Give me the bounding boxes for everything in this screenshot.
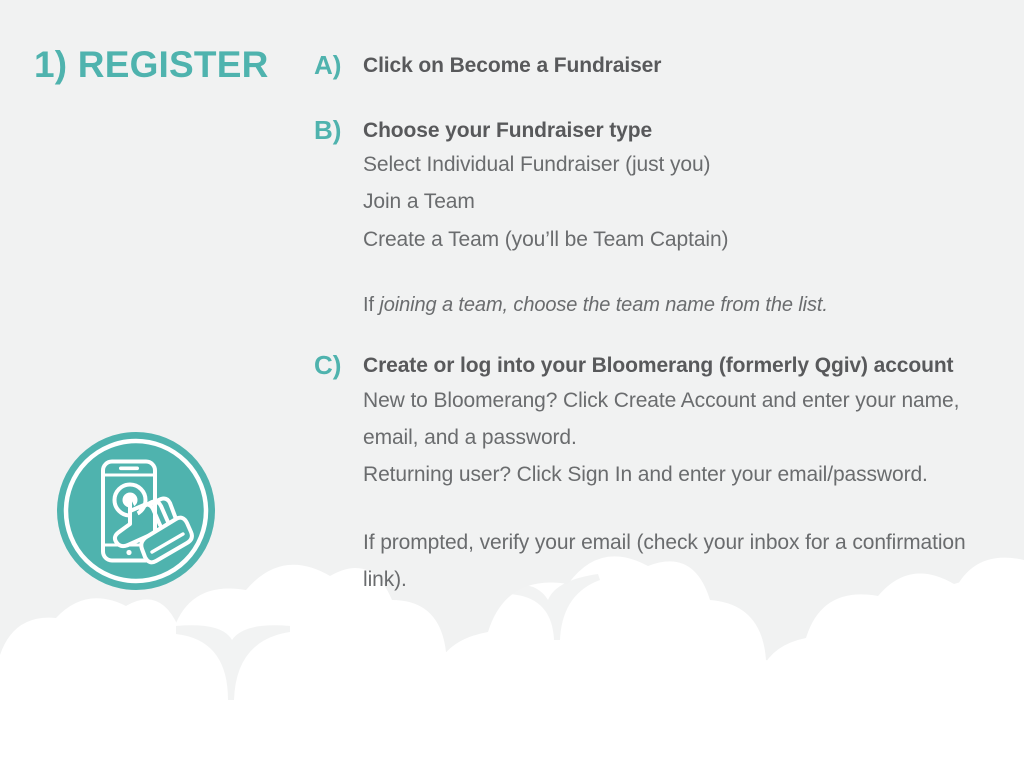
step-c-note: If prompted, verify your email (check yo… [363, 524, 1004, 599]
step-b-heading: Choose your Fundraiser type [363, 115, 1004, 147]
step-b-line-3: Create a Team (you’ll be Team Captain) [363, 221, 1004, 258]
step-c-body: Create or log into your Bloomerang (form… [363, 350, 1004, 598]
page-title: 1) REGISTER [34, 44, 269, 86]
slide-canvas: 1) REGISTER A) Click on Become a Fun [0, 0, 1024, 768]
step-c-line-2: Returning user? Click Sign In and enter … [363, 456, 1004, 493]
tap-phone-icon [56, 431, 216, 591]
step-b-note: If joining a team, choose the team name … [363, 288, 1004, 322]
spacer-b-note [363, 258, 1004, 288]
spacer-b-c [314, 322, 1004, 350]
steps-list: A) Click on Become a Fundraiser B) Choos… [314, 50, 1004, 599]
step-b-letter: B) [314, 115, 354, 147]
step-b: B) Choose your Fundraiser type Select In… [314, 115, 1004, 323]
spacer-c-note [363, 494, 1004, 524]
step-a-heading: Click on Become a Fundraiser [363, 50, 1004, 82]
spacer-a-b [314, 82, 1004, 115]
step-b-line-2: Join a Team [363, 183, 1004, 220]
step-b-note-prefix: If [363, 294, 374, 316]
step-a: A) Click on Become a Fundraiser [314, 50, 1004, 82]
step-c-letter: C) [314, 350, 354, 382]
step-b-body: Choose your Fundraiser type Select Indiv… [363, 115, 1004, 323]
step-a-body: Click on Become a Fundraiser [363, 50, 1004, 82]
step-c-line-1: New to Bloomerang? Click Create Account … [363, 382, 1004, 457]
step-c: C) Create or log into your Bloomerang (f… [314, 350, 1004, 598]
step-b-line-1: Select Individual Fundraiser (just you) [363, 146, 1004, 183]
step-b-note-text: joining a team, choose the team name fro… [374, 294, 828, 316]
step-a-letter: A) [314, 50, 354, 82]
step-c-heading: Create or log into your Bloomerang (form… [363, 350, 1004, 382]
